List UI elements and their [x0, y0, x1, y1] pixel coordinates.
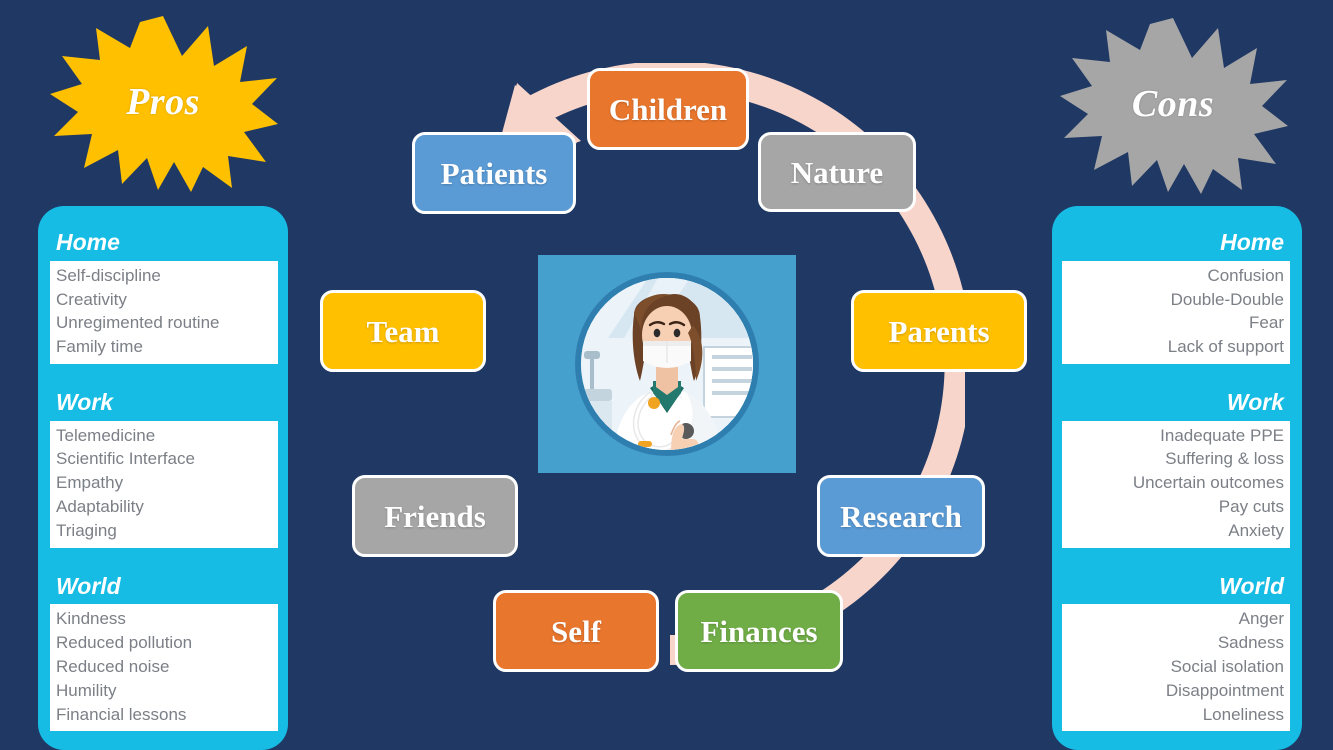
list-item: Humility: [56, 679, 268, 703]
list-item: Triaging: [56, 519, 268, 543]
cons-panel: Home Confusion Double-Double Fear Lack o…: [1052, 206, 1302, 750]
pros-panel: Home Self-discipline Creativity Unregime…: [38, 206, 288, 750]
node-research[interactable]: Research: [817, 475, 985, 557]
center-image-card: [538, 255, 796, 473]
pros-badge: Pros: [48, 12, 278, 192]
group-title: World: [1052, 550, 1302, 605]
group-list: Anger Sadness Social isolation Disappoin…: [1062, 604, 1290, 731]
cons-group-world: World Anger Sadness Social isolation Dis…: [1052, 550, 1302, 732]
list-item: Loneliness: [1072, 703, 1284, 727]
list-item: Disappointment: [1072, 679, 1284, 703]
node-team[interactable]: Team: [320, 290, 486, 372]
infographic-canvas: Pros Cons Home Self-discipline Creativit…: [0, 0, 1333, 750]
list-item: Social isolation: [1072, 655, 1284, 679]
list-item: Empathy: [56, 471, 268, 495]
list-item: Telemedicine: [56, 424, 268, 448]
node-friends[interactable]: Friends: [352, 475, 518, 557]
group-title: Work: [1052, 366, 1302, 421]
list-item: Financial lessons: [56, 703, 268, 727]
node-self[interactable]: Self: [493, 590, 659, 672]
node-patients[interactable]: Patients: [412, 132, 576, 214]
list-item: Adaptability: [56, 495, 268, 519]
group-list: Telemedicine Scientific Interface Empath…: [50, 421, 278, 548]
list-item: Pay cuts: [1072, 495, 1284, 519]
node-label: Friends: [384, 501, 486, 532]
node-label: Nature: [791, 157, 883, 188]
cons-group-work: Work Inadequate PPE Suffering & loss Unc…: [1052, 366, 1302, 548]
list-item: Double-Double: [1072, 288, 1284, 312]
list-item: Anger: [1072, 607, 1284, 631]
list-item: Creativity: [56, 288, 268, 312]
group-title: Work: [38, 366, 288, 421]
cons-group-home: Home Confusion Double-Double Fear Lack o…: [1052, 214, 1302, 364]
list-item: Anxiety: [1072, 519, 1284, 543]
pros-group-home: Home Self-discipline Creativity Unregime…: [38, 214, 288, 364]
node-finances[interactable]: Finances: [675, 590, 843, 672]
group-title: World: [38, 550, 288, 605]
list-item: Lack of support: [1072, 335, 1284, 359]
node-label: Team: [367, 316, 440, 347]
cycle-wheel: Children Nature Parents Research Finance…: [365, 63, 965, 668]
list-item: Sadness: [1072, 631, 1284, 655]
node-label: Patients: [441, 158, 548, 189]
node-label: Finances: [700, 616, 817, 647]
node-nature[interactable]: Nature: [758, 132, 916, 212]
group-list: Confusion Double-Double Fear Lack of sup…: [1062, 261, 1290, 364]
cons-badge: Cons: [1058, 14, 1288, 194]
pros-group-work: Work Telemedicine Scientific Interface E…: [38, 366, 288, 548]
pros-label: Pros: [126, 80, 200, 124]
list-item: Confusion: [1072, 264, 1284, 288]
list-item: Self-discipline: [56, 264, 268, 288]
list-item: Fear: [1072, 311, 1284, 335]
group-list: Kindness Reduced pollution Reduced noise…: [50, 604, 278, 731]
list-item: Unregimented routine: [56, 311, 268, 335]
list-item: Suffering & loss: [1072, 447, 1284, 471]
list-item: Scientific Interface: [56, 447, 268, 471]
group-list: Self-discipline Creativity Unregimented …: [50, 261, 278, 364]
doctor-thumbs-up-illustration: [538, 255, 796, 473]
node-label: Self: [551, 616, 601, 647]
list-item: Reduced pollution: [56, 631, 268, 655]
list-item: Reduced noise: [56, 655, 268, 679]
group-title: Home: [1052, 214, 1302, 261]
node-label: Research: [840, 501, 962, 532]
node-parents[interactable]: Parents: [851, 290, 1027, 372]
list-item: Family time: [56, 335, 268, 359]
list-item: Uncertain outcomes: [1072, 471, 1284, 495]
node-label: Parents: [888, 316, 989, 347]
pros-group-world: World Kindness Reduced pollution Reduced…: [38, 550, 288, 732]
list-item: Kindness: [56, 607, 268, 631]
node-label: Children: [609, 94, 727, 125]
node-children[interactable]: Children: [587, 68, 749, 150]
list-item: Inadequate PPE: [1072, 424, 1284, 448]
group-list: Inadequate PPE Suffering & loss Uncertai…: [1062, 421, 1290, 548]
cons-label: Cons: [1132, 82, 1214, 126]
group-title: Home: [38, 214, 288, 261]
